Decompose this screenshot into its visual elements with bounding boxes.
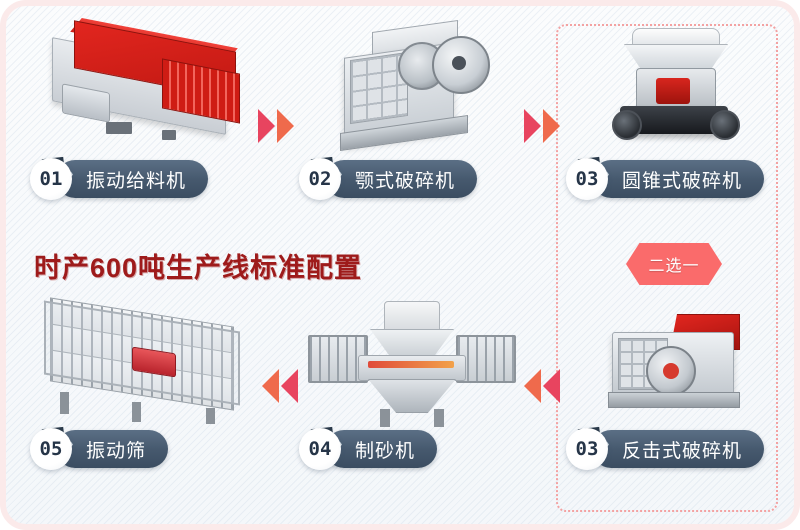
arrow-jaw-to-cone (524, 109, 560, 143)
chevron-arrow-icon (543, 369, 560, 403)
node-number-04: 04 (299, 428, 341, 470)
node-number-03-impact: 03 (566, 428, 608, 470)
sand-discharge-hopper (368, 379, 456, 413)
node-number-05: 05 (30, 428, 72, 470)
node-label-03-impact[interactable]: 03 › 反击式破碎机 (566, 428, 764, 470)
cone-wheel-left (612, 110, 642, 140)
impact-crusher-image (598, 306, 756, 428)
cone-wheel-right (710, 110, 740, 140)
screen-leg-2 (132, 402, 141, 422)
arrow-sand-to-screen (262, 369, 298, 403)
sand-main-body (358, 355, 466, 381)
headline-title: 时产600吨生产线标准配置 (34, 246, 362, 285)
node-label-text-02: 颚式破碎机 (355, 166, 455, 193)
chevron-arrow-icon (543, 109, 560, 143)
node-pill-02[interactable]: › 颚式破碎机 (325, 160, 477, 198)
feeder-support-2 (162, 130, 176, 140)
arrow-crusher-to-sand (524, 369, 560, 403)
jaw-flywheel (432, 36, 490, 94)
sand-leg-right (434, 409, 444, 427)
sand-leg-left (380, 409, 390, 427)
chevron-arrow-icon (524, 109, 541, 143)
vibrating-screen-image (36, 306, 256, 426)
node-number-02: 02 (299, 158, 341, 200)
chevron-arrow-icon (524, 369, 541, 403)
chevron-arrow-icon (262, 369, 279, 403)
node-label-text-01: 振动给料机 (86, 166, 186, 193)
sand-accent-stripe (368, 361, 454, 368)
node-pill-01[interactable]: › 振动给料机 (56, 160, 208, 198)
sand-feed-cylinder (384, 301, 440, 333)
node-number-01: 01 (30, 158, 72, 200)
feeder-support-1 (106, 122, 132, 134)
node-pill-04[interactable]: › 制砂机 (325, 430, 437, 468)
impact-flywheel (646, 346, 696, 396)
node-label-text-03-impact: 反击式破碎机 (622, 436, 742, 463)
chevron-arrow-icon (281, 369, 298, 403)
jaw-crusher-image (336, 20, 506, 152)
node-label-05[interactable]: 05 › 振动筛 (30, 428, 168, 470)
node-label-02[interactable]: 02 › 颚式破碎机 (299, 158, 477, 200)
vibrating-feeder-image (34, 30, 244, 148)
node-label-text-04: 制砂机 (355, 436, 415, 463)
node-label-text-05: 振动筛 (86, 436, 146, 463)
node-label-text-03-cone: 圆锥式破碎机 (622, 166, 742, 193)
chevron-arrow-icon (277, 109, 294, 143)
cone-crusher-image (606, 26, 746, 152)
chevron-arrow-icon (258, 109, 275, 143)
node-pill-03-impact[interactable]: › 反击式破碎机 (592, 430, 764, 468)
infographic-canvas: 二选一 时产600吨生产线标准配置 01 › 振动给料机 02 › (0, 0, 800, 530)
node-pill-05[interactable]: › 振动筛 (56, 430, 168, 468)
arrow-feeder-to-jaw (258, 109, 294, 143)
screen-leg-3 (206, 408, 215, 424)
node-label-03-cone[interactable]: 03 › 圆锥式破碎机 (566, 158, 764, 200)
impact-base (608, 392, 740, 408)
node-pill-03-cone[interactable]: › 圆锥式破碎机 (592, 160, 764, 198)
cone-red-detail (656, 78, 690, 104)
node-number-03-cone: 03 (566, 158, 608, 200)
choose-one-badge: 二选一 (626, 243, 722, 285)
node-label-01[interactable]: 01 › 振动给料机 (30, 158, 208, 200)
sand-maker-image (306, 301, 516, 429)
screen-leg-1 (60, 392, 69, 414)
node-label-04[interactable]: 04 › 制砂机 (299, 428, 437, 470)
